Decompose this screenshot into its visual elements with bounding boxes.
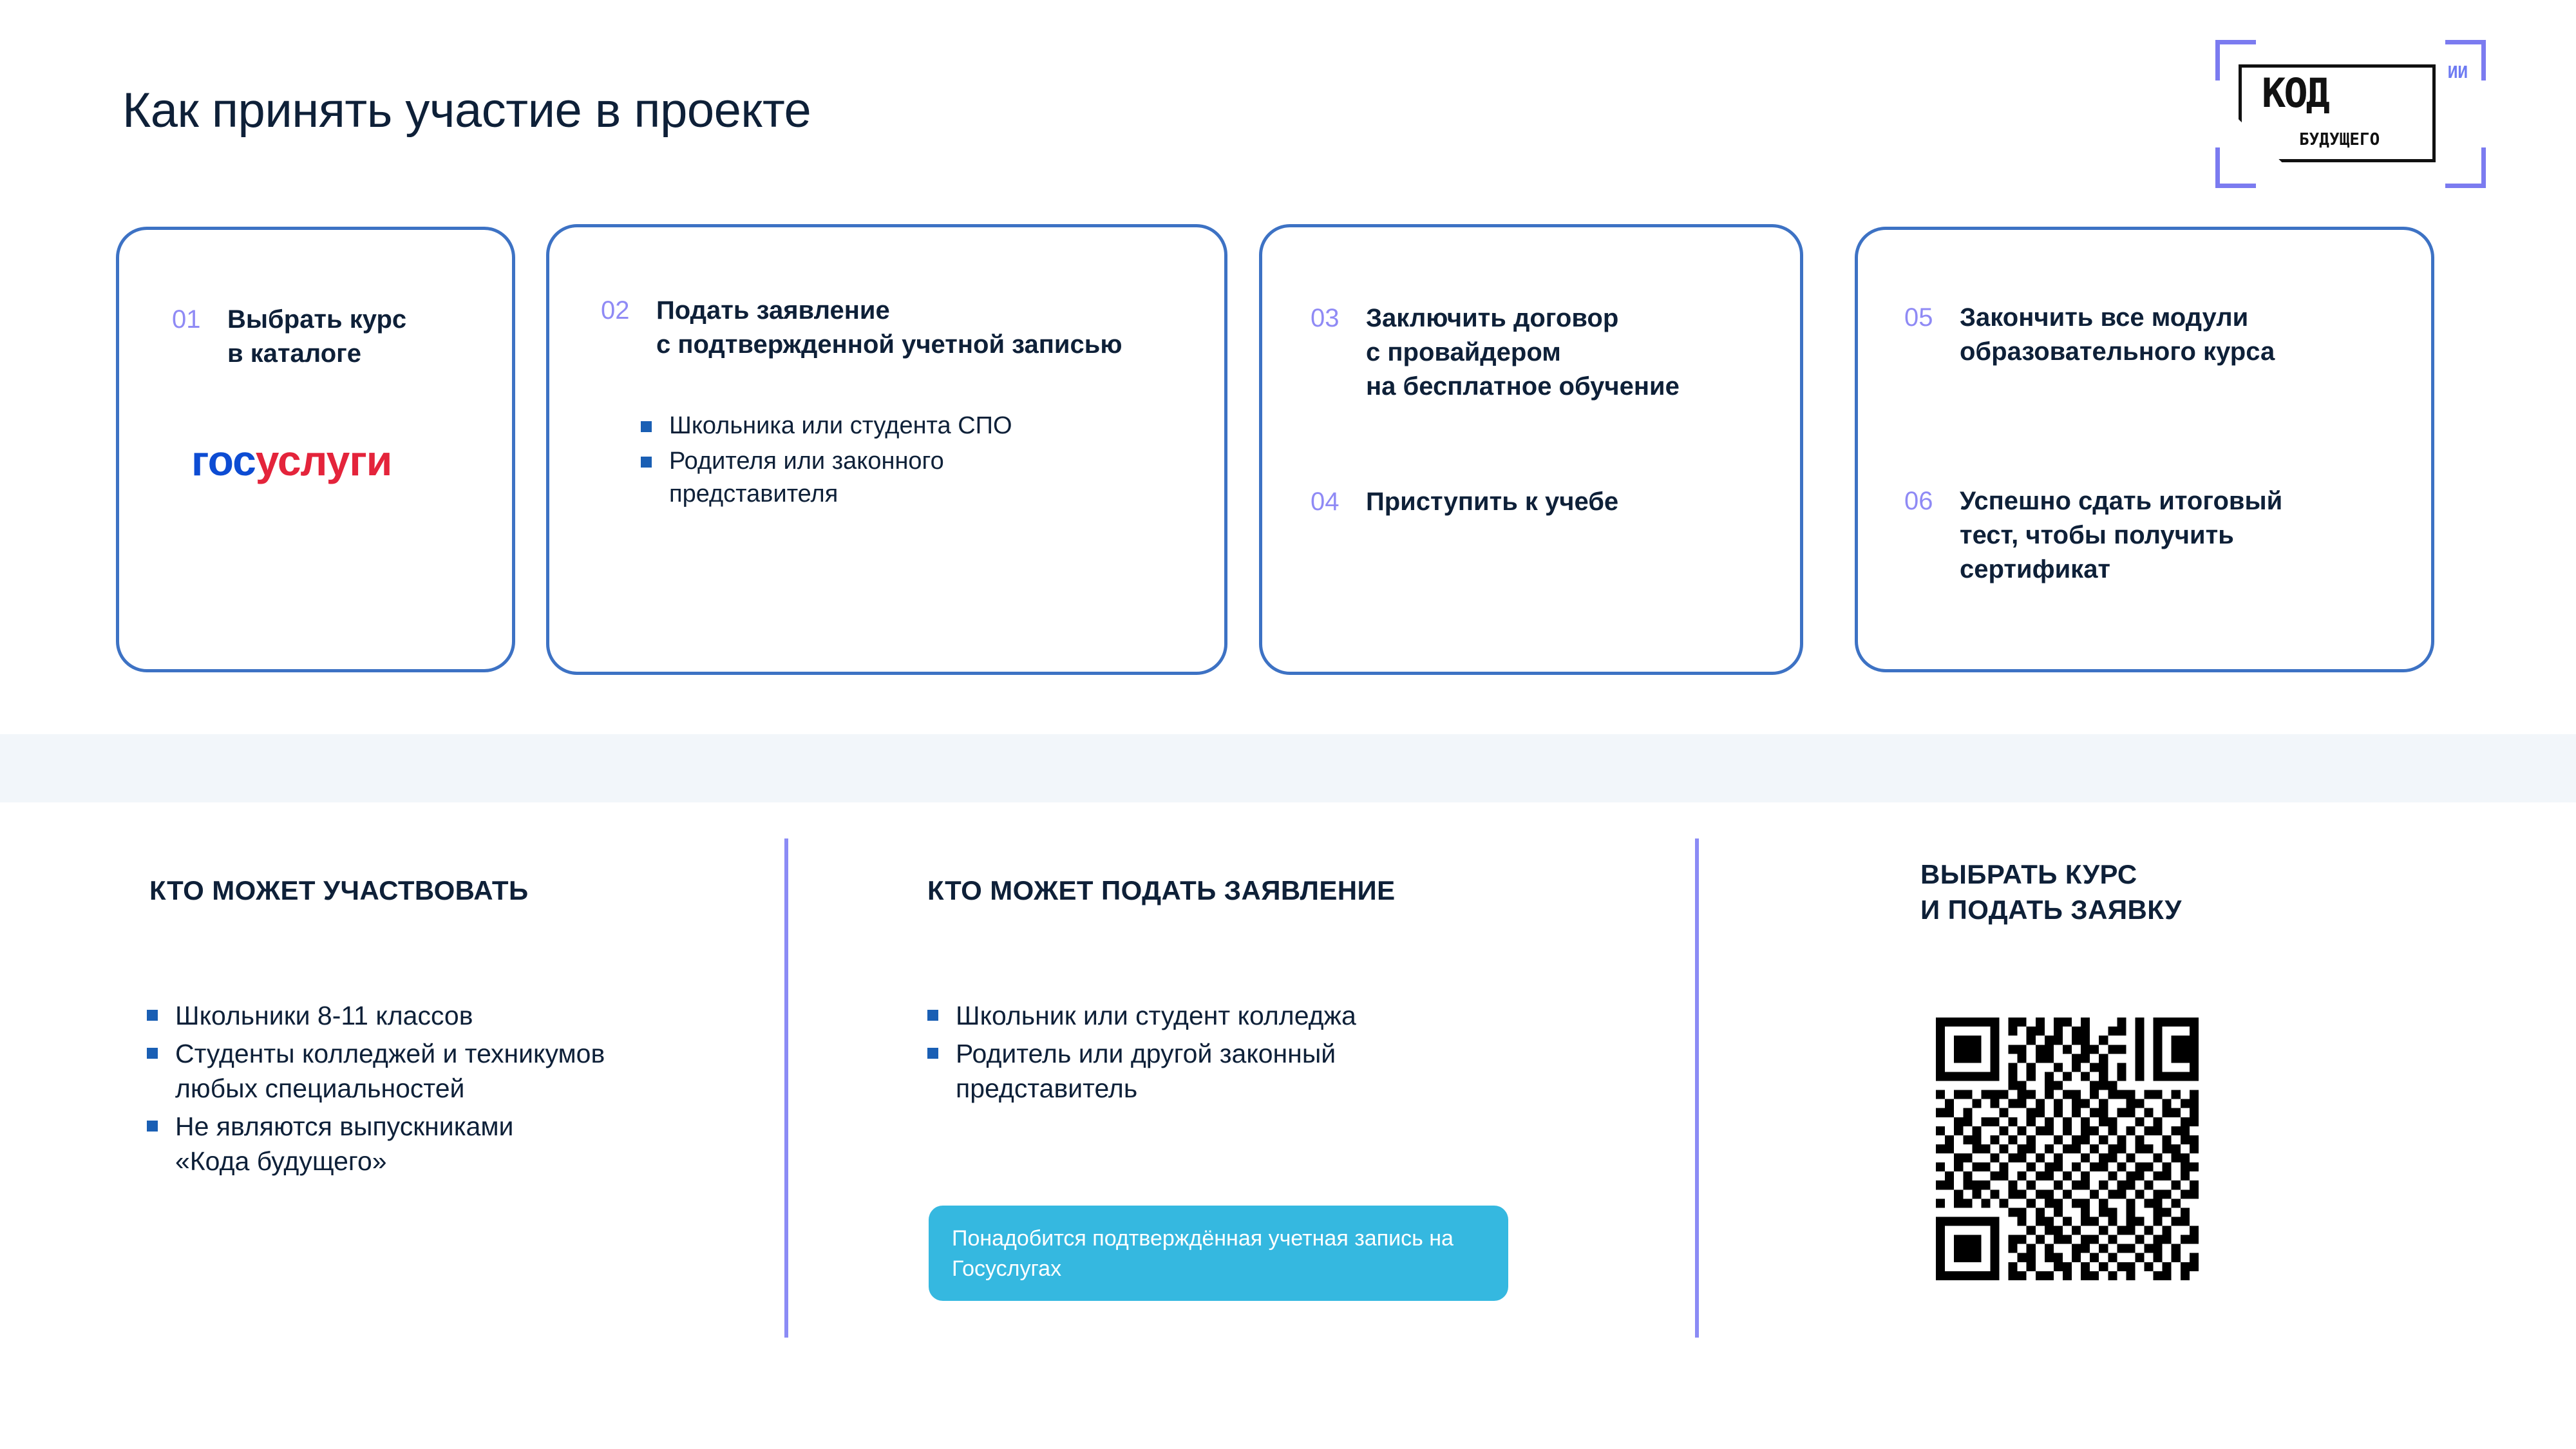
step-card-2: 02 Подать заявление с подтвержденной уче… [546, 224, 1227, 675]
step-05: 05 Закончить все модули образовательного… [1904, 301, 2275, 369]
list-item: Не являются выпускниками «Кода будущего» [147, 1109, 605, 1179]
step-01: 01 Выбрать курс в каталоге [172, 303, 406, 371]
step-02: 02 Подать заявление с подтвержденной уче… [601, 294, 1122, 362]
section-divider-band [0, 734, 2576, 802]
step-number: 05 [1904, 301, 1943, 335]
page-title: Как принять участие в проекте [122, 82, 811, 138]
step-card-1: 01 Выбрать курс в каталоге госуслуги [116, 227, 515, 672]
step-label: Приступить к учебе [1366, 485, 1618, 519]
step-03: 03 Заключить договор с провайдером на бе… [1311, 301, 1680, 403]
step-label: Подать заявление с подтвержденной учетно… [656, 294, 1122, 362]
step-number: 02 [601, 294, 639, 328]
step-04: 04 Приступить к учебе [1311, 485, 1618, 519]
list-item: Родитель или другой законный представите… [927, 1036, 1356, 1106]
step-label: Успешно сдать итоговый тест, чтобы получ… [1960, 484, 2282, 586]
bracket-bottom-left-icon [2215, 147, 2256, 188]
step-number: 06 [1904, 484, 1943, 518]
step-label: Выбрать курс в каталоге [227, 303, 406, 371]
who-can-participate-heading: КТО МОЖЕТ УЧАСТВОВАТЬ [149, 873, 529, 908]
gosuslugi-red-part: услуги [256, 437, 392, 484]
list-item: Студенты колледжей и техникумов любых сп… [147, 1036, 605, 1106]
brand-logo: КОД БУДУЩЕГО ИИ [2215, 40, 2486, 188]
who-can-apply-heading: КТО МОЖЕТ ПОДАТЬ ЗАЯВЛЕНИЕ [927, 873, 1396, 908]
step-card-4: 05 Закончить все модули образовательного… [1855, 227, 2434, 672]
step-number: 01 [172, 303, 211, 337]
card-2-bullet-list: Школьника или студента СПО Родителя или … [641, 410, 1012, 513]
step-06: 06 Успешно сдать итоговый тест, чтобы по… [1904, 484, 2282, 586]
list-item: Школьника или студента СПО [641, 410, 1012, 442]
qr-code-canvas[interactable] [1918, 999, 2217, 1298]
column-divider-right [1695, 838, 1699, 1338]
who-can-apply-list: Школьник или студент колледжа Родитель и… [927, 998, 1356, 1109]
list-item: Школьник или студент колледжа [927, 998, 1356, 1034]
step-label: Заключить договор с провайдером на беспл… [1366, 301, 1680, 403]
gosuslugi-logo: госуслуги [191, 439, 392, 482]
choose-course-heading: ВЫБРАТЬ КУРС И ПОДАТЬ ЗАЯВКУ [1920, 857, 2182, 928]
column-divider-left [784, 838, 788, 1338]
step-label: Закончить все модули образовательного ку… [1960, 301, 2275, 369]
step-number: 03 [1311, 301, 1349, 336]
qr-code[interactable] [1918, 999, 2217, 1298]
gosuslugi-blue-part: гос [191, 437, 256, 484]
logo-main-text: КОД [2262, 73, 2328, 113]
logo-ai-badge: ИИ [2448, 64, 2468, 81]
logo-sub-text: БУДУЩЕГО [2299, 131, 2380, 148]
step-card-3: 03 Заключить договор с провайдером на бе… [1259, 224, 1803, 675]
verified-account-callout: Понадобится подтверждённая учетная запис… [929, 1206, 1508, 1301]
step-number: 04 [1311, 485, 1349, 519]
who-can-participate-list: Школьники 8-11 классов Студенты колледже… [147, 998, 605, 1182]
bracket-bottom-right-icon [2445, 147, 2486, 188]
list-item: Школьники 8-11 классов [147, 998, 605, 1034]
list-item: Родителя или законного представителя [641, 445, 1012, 511]
